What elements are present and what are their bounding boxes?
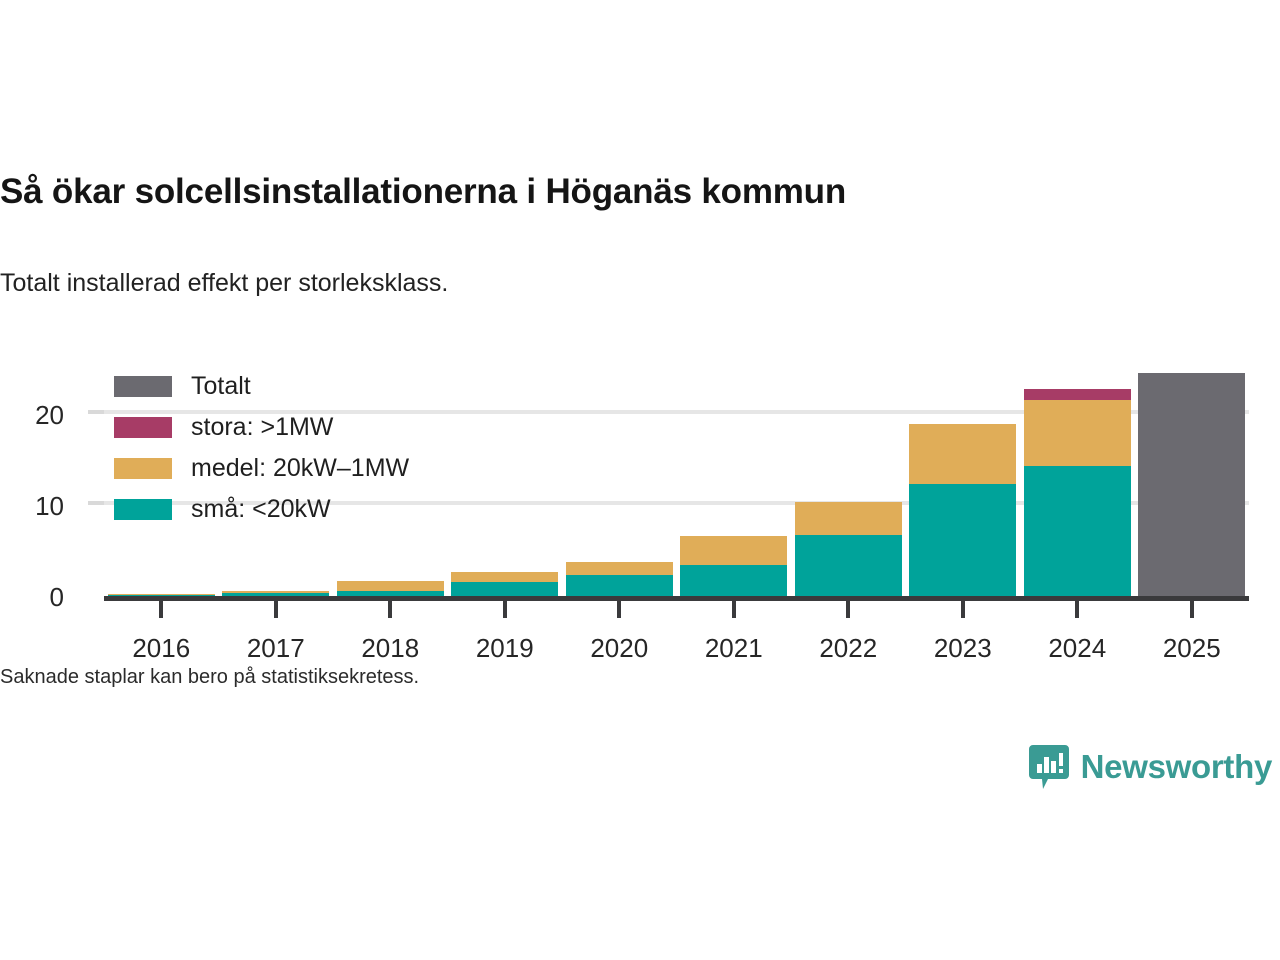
x-tick-label: 2018 (333, 633, 448, 664)
bar-column[interactable] (451, 572, 558, 597)
legend-label: små: <20kW (191, 495, 331, 524)
bar-segment[interactable] (680, 536, 787, 565)
y-tick-label: 20 (0, 400, 64, 431)
x-tick-label: 2024 (1020, 633, 1135, 664)
x-tick-mark (388, 601, 392, 618)
bar-segment[interactable] (1024, 400, 1131, 466)
bar-segment[interactable] (1024, 389, 1131, 400)
bar-column[interactable] (795, 502, 902, 596)
x-tick-mark (617, 601, 621, 618)
bar-segment[interactable] (680, 565, 787, 596)
logo-wordmark: Newsworthy (1081, 748, 1272, 786)
x-tick-mark (961, 601, 965, 618)
bar-column[interactable] (1138, 373, 1245, 596)
x-tick-label: 2025 (1135, 633, 1250, 664)
y-tick-mark (88, 501, 104, 505)
x-tick-mark (159, 601, 163, 618)
page-title: Så ökar solcellsinstallationerna i Högan… (0, 173, 1240, 212)
legend-item[interactable]: stora: >1MW (114, 407, 409, 448)
x-tick-label: 2019 (448, 633, 563, 664)
legend-item[interactable]: små: <20kW (114, 489, 409, 530)
newsworthy-bubble-barchart-icon (1029, 745, 1069, 789)
bar-segment[interactable] (337, 581, 444, 591)
x-tick-mark (1190, 601, 1194, 618)
x-tick-label: 2020 (562, 633, 677, 664)
legend-label: medel: 20kW–1MW (191, 454, 409, 483)
bar-column[interactable] (680, 536, 787, 596)
x-tick-mark (1075, 601, 1079, 618)
legend-item[interactable]: medel: 20kW–1MW (114, 448, 409, 489)
bar-column[interactable] (909, 424, 1016, 596)
y-tick-mark (88, 410, 104, 414)
bar-segment[interactable] (566, 575, 673, 596)
bar-segment[interactable] (451, 572, 558, 583)
legend-swatch (114, 458, 172, 479)
legend-swatch (114, 417, 172, 438)
legend-swatch (114, 499, 172, 520)
x-tick-label: 2022 (791, 633, 906, 664)
bar-column[interactable] (337, 581, 444, 596)
legend-label: Totalt (191, 372, 251, 401)
x-tick-mark (503, 601, 507, 618)
x-tick-mark (846, 601, 850, 618)
bar-segment[interactable] (909, 424, 1016, 484)
bar-column[interactable] (1024, 389, 1131, 596)
newsworthy-logo: Newsworthy (1029, 745, 1272, 789)
bar-segment[interactable] (795, 535, 902, 596)
x-tick-label: 2017 (219, 633, 334, 664)
bar-segment[interactable] (909, 484, 1016, 596)
y-tick-label: 0 (0, 582, 64, 613)
x-tick-label: 2021 (677, 633, 792, 664)
bar-segment[interactable] (1024, 466, 1131, 596)
legend-label: stora: >1MW (191, 413, 333, 442)
page-subtitle: Totalt installerad effekt per storlekskl… (0, 269, 1240, 298)
bar-column[interactable] (566, 562, 673, 596)
bar-segment[interactable] (1138, 373, 1245, 596)
x-tick-label: 2016 (104, 633, 219, 664)
x-tick-mark (274, 601, 278, 618)
bar-segment[interactable] (566, 562, 673, 576)
bar-segment[interactable] (451, 582, 558, 596)
chart-legend: Totaltstora: >1MWmedel: 20kW–1MWsmå: <20… (114, 366, 409, 530)
chart-page: Så ökar solcellsinstallationerna i Högan… (0, 0, 1280, 960)
x-axis-line (104, 596, 1249, 601)
legend-swatch (114, 376, 172, 397)
x-tick-mark (732, 601, 736, 618)
footnote: Saknade staplar kan bero på statistiksek… (0, 666, 419, 689)
bar-segment[interactable] (795, 502, 902, 536)
x-tick-label: 2023 (906, 633, 1021, 664)
legend-item[interactable]: Totalt (114, 366, 409, 407)
y-tick-label: 10 (0, 491, 64, 522)
